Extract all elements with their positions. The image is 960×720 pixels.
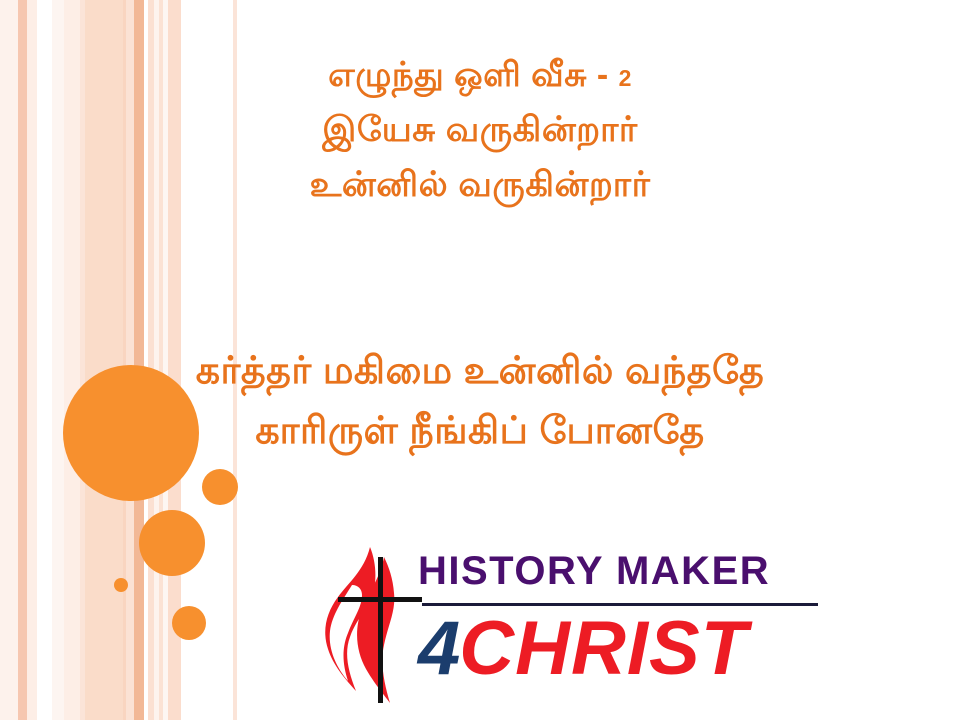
logo-history-maker-text: HISTORY MAKER: [418, 551, 826, 591]
chorus-block: கர்த்தர் மகிமை உன்னில் வந்ததே காரிருள் ந…: [0, 352, 960, 472]
stanza-title-line-1: எழுந்து ஒளி வீசு - 2: [0, 58, 960, 92]
circle-xsmall: [172, 606, 206, 640]
stanza-title-line-3: உன்னில் வருகின்றார்: [0, 167, 960, 202]
circle-small: [202, 469, 238, 505]
logo-number-4: 4: [418, 606, 459, 691]
stanza-number: 2: [619, 65, 632, 91]
circle-medium: [139, 510, 205, 576]
stanza-title-block: எழுந்து ஒளி வீசு - 2 இயேசு வருகின்றார் உ…: [0, 58, 960, 222]
logo-wordmark: HISTORY MAKER 4CHRIST: [418, 549, 826, 701]
cross-horizontal: [338, 597, 422, 602]
cross-vertical: [378, 557, 383, 703]
stanza-title-text: எழுந்து ஒளி வீசு -: [328, 56, 619, 94]
stanza-title-line-2: இயேசு வருகின்றார்: [0, 112, 960, 147]
flame-cross-icon: [318, 545, 422, 703]
logo-christ-word: CHRIST: [459, 606, 748, 691]
chorus-line-2: காரிருள் நீங்கிப் போனதே: [0, 412, 960, 450]
presentation-slide: எழுந்து ஒளி வீசு - 2 இயேசு வருகின்றார் உ…: [0, 0, 960, 720]
history-maker-4-christ-logo: HISTORY MAKER 4CHRIST: [318, 545, 826, 705]
logo-4-christ-text: 4CHRIST: [418, 611, 826, 687]
chorus-line-1: கர்த்தர் மகிமை உன்னில் வந்ததே: [0, 352, 960, 390]
circle-dot: [114, 578, 128, 592]
